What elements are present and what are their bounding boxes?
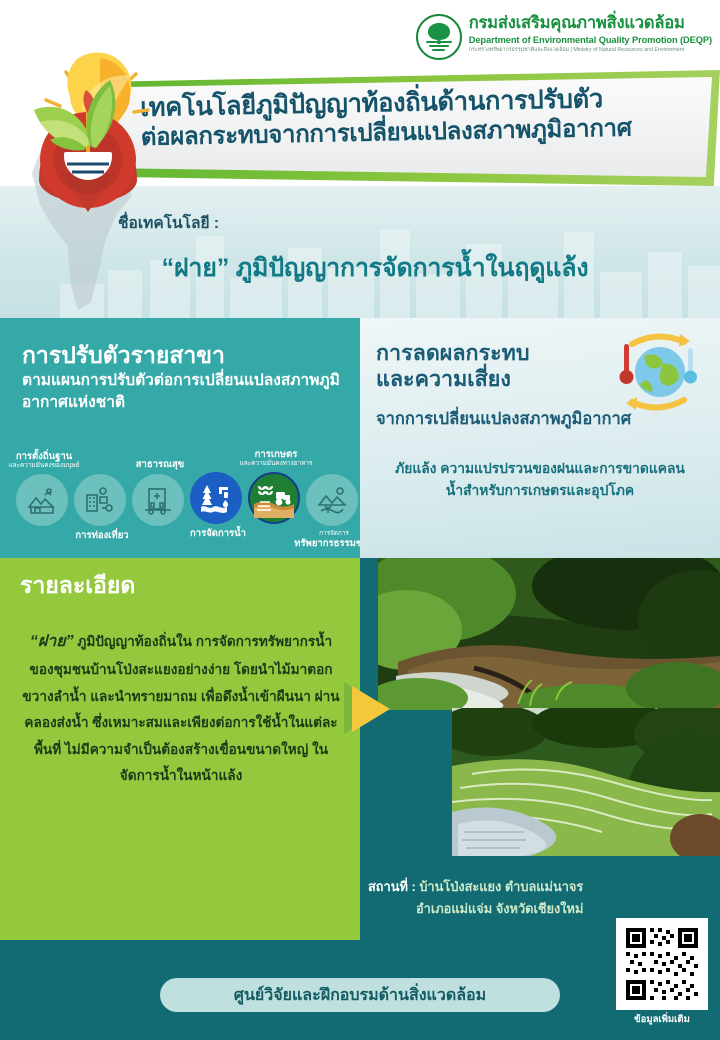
health-icon bbox=[132, 474, 184, 526]
qr-code[interactable] bbox=[616, 918, 708, 1010]
sector-label-health: สาธารณสุข bbox=[136, 459, 184, 470]
ministry-name: กระทรวงทรัพยากรธรรมชาติและสิ่งแวดล้อม | … bbox=[469, 47, 712, 55]
org-name-thai: กรมส่งเสริมคุณภาพสิ่งแวดล้อม bbox=[469, 15, 712, 33]
photo-and-location-panel: สถานที่ : บ้านโป่งสะแยง ตำบลแม่นาจร อำเภ… bbox=[360, 558, 720, 940]
page-title: เทคโนโลยีภูมิปัญญาท้องถิ่นด้านการปรับตัว… bbox=[140, 83, 701, 151]
qr-code-caption: ข้อมูลเพิ่มเติม bbox=[616, 1012, 708, 1027]
settlement-icon bbox=[16, 474, 68, 526]
location-line-1: บ้านโป่งสะแยง ตำบลแม่นาจร bbox=[419, 879, 583, 894]
details-body-text: ภูมิปัญญาท้องถิ่นใน การจัดการทรัพยากรน้ำ… bbox=[22, 634, 339, 783]
details-panel: รายละเอียด “ฝาย” ภูมิปัญญาท้องถิ่นใน การ… bbox=[0, 558, 360, 940]
sector-item-settlement[interactable]: การตั้งถิ่นฐาน และความมั่นคงของมนุษย์ bbox=[16, 474, 72, 526]
impact-heading-line-1: การลดผลกระทบ bbox=[376, 340, 576, 366]
agriculture-icon bbox=[248, 472, 300, 524]
sector-item-water-management[interactable]: การจัดการน้ำ bbox=[190, 472, 246, 524]
sector-label-settlement: การตั้งถิ่นฐาน และความมั่นคงของมนุษย์ bbox=[9, 451, 80, 470]
details-keyword: “ฝาย” bbox=[30, 633, 74, 650]
sector-label-agriculture: การเกษตร และความมั่นคงทางอาหาร bbox=[240, 449, 313, 468]
details-title: รายละเอียด bbox=[20, 568, 135, 604]
sector-panel-heading: การปรับตัวรายสาขา bbox=[22, 338, 225, 374]
check-dam-stream-photo bbox=[378, 558, 720, 710]
footer-organization: ศูนย์วิจัยและฝึกอบรมด้านสิ่งแวดล้อม bbox=[160, 978, 560, 1012]
impact-heading-line-2: และความเสี่ยง bbox=[376, 366, 576, 392]
sector-icon-row: การตั้งถิ่นฐาน และความมั่นคงของมนุษย์ กา… bbox=[0, 446, 360, 554]
sector-item-agriculture[interactable]: การเกษตร และความมั่นคงทางอาหาร bbox=[248, 472, 304, 524]
details-body: “ฝาย” ภูมิปัญญาท้องถิ่นใน การจัดการทรัพย… bbox=[18, 626, 344, 790]
impact-body-line-2: น้ำสำหรับการเกษตรและอุปโภค bbox=[372, 480, 708, 502]
sector-item-health[interactable]: สาธารณสุข bbox=[132, 474, 188, 526]
impact-panel-heading: การลดผลกระทบ และความเสี่ยง bbox=[376, 340, 576, 392]
location-block: สถานที่ : บ้านโป่งสะแยง ตำบลแม่นาจร อำเภ… bbox=[368, 876, 720, 921]
impact-reduction-panel: การลดผลกระทบ และความเสี่ยง จากการเปลี่ยน… bbox=[360, 318, 720, 558]
location-label: สถานที่ : bbox=[368, 879, 416, 894]
water-management-icon bbox=[190, 472, 242, 524]
org-name-english: Department of Environmental Quality Prom… bbox=[469, 34, 712, 46]
lightbulb-pin-logo bbox=[18, 52, 158, 224]
globe-thermometer-icon bbox=[610, 330, 706, 414]
impact-body-line-1: ภัยแล้ง ความแปรปรวนของฝนและการขาดแคลน bbox=[372, 458, 708, 480]
sector-item-natural-resources[interactable]: การจัดการ ทรัพยากรธรรมชาติ bbox=[306, 474, 362, 526]
technology-name-value: “ฝาย” ภูมิปัญญาการจัดการน้ำในฤดูแล้ง bbox=[0, 248, 720, 288]
sector-label-tourism: การท่องเที่ยว bbox=[75, 530, 128, 541]
deqp-logo: กรมส่งเสริมคุณภาพสิ่งแวดล้อม Department … bbox=[416, 14, 712, 60]
impact-panel-subheading: จากการเปลี่ยนแปลงสภาพภูมิอากาศ bbox=[376, 406, 666, 432]
tourism-icon bbox=[74, 474, 126, 526]
sector-label-water-management: การจัดการน้ำ bbox=[190, 528, 246, 539]
deqp-seal-icon bbox=[416, 14, 462, 60]
natural-resources-icon bbox=[306, 474, 358, 526]
sector-panel-subheading: ตามแผนการปรับตัวต่อการเปลี่ยนแปลงสภาพภูม… bbox=[22, 370, 344, 415]
impact-panel-body: ภัยแล้ง ความแปรปรวนของฝนและการขาดแคลน น้… bbox=[372, 458, 708, 502]
sector-adaptation-panel: การปรับตัวรายสาขา ตามแผนการปรับตัวต่อการ… bbox=[0, 318, 360, 558]
rice-terrace-photo bbox=[452, 708, 720, 856]
sector-item-tourism[interactable]: การท่องเที่ยว bbox=[74, 474, 130, 526]
